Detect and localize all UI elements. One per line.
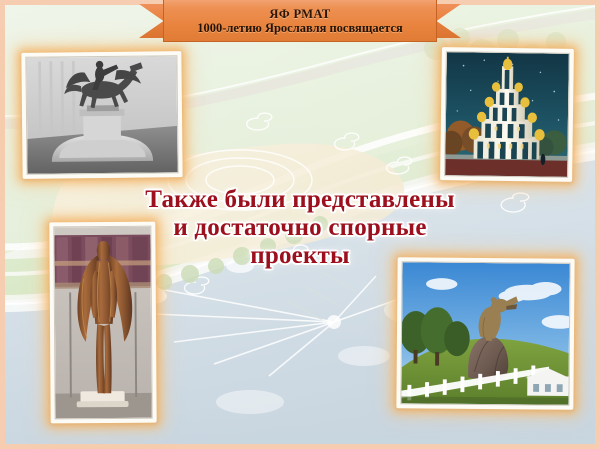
- ribbon-plate: ЯФ РМАТ 1000-летию Ярославля посвящается: [163, 0, 437, 42]
- photo-bear-image: [400, 261, 570, 405]
- ribbon-banner: ЯФ РМАТ 1000-летию Ярославля посвящается: [0, 0, 600, 46]
- headline-line-1: Также были представлены: [118, 186, 482, 214]
- photo-equestrian-statue[interactable]: [21, 51, 182, 179]
- equestrian-illustration: [26, 56, 177, 174]
- photo-tower-project[interactable]: [440, 47, 574, 182]
- banner-line-2: 1000-летию Ярославля посвящается: [197, 21, 403, 35]
- photo-tower-image: [444, 51, 570, 178]
- banner-line-1: ЯФ РМАТ: [269, 8, 330, 21]
- slide-root: ЯФ РМАТ 1000-летию Ярославля посвящается: [0, 0, 600, 449]
- headline-line-3: проекты: [118, 242, 482, 270]
- page-title: Также были представлены и достаточно спо…: [118, 186, 482, 270]
- photo-equestrian-image: [25, 55, 178, 175]
- tower-illustration: [445, 52, 569, 177]
- photo-bear-monument[interactable]: [396, 257, 574, 410]
- bear-illustration: [401, 262, 569, 404]
- headline-line-2: и достаточно спорные: [118, 214, 482, 242]
